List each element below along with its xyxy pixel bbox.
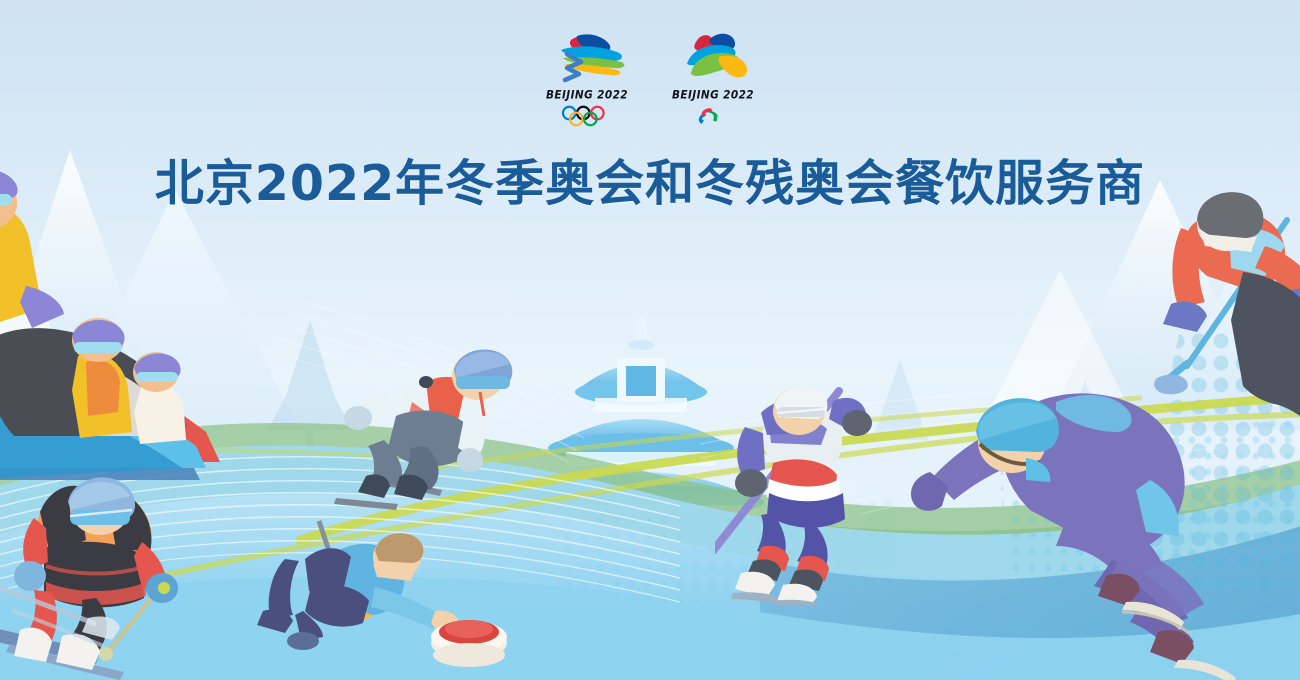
beijing-2022-paralympic-emblem-icon	[667, 30, 759, 88]
skater-body	[344, 349, 512, 500]
page-title: 北京2022年冬季奥会和冬残奥会餐饮服务商	[0, 144, 1300, 215]
hockey-player-body	[731, 386, 872, 605]
athlete-curler-sweeping	[1135, 180, 1300, 440]
bobsleigh-athlete-2	[72, 318, 132, 438]
athlete-curler-delivering	[245, 515, 515, 680]
paralympic-wordmark: BEIJING 2022	[672, 88, 754, 101]
olympic-wordmark: BEIJING 2022	[546, 88, 628, 101]
logo-paralympic: BEIJING 2022	[667, 30, 759, 128]
paralympic-agitos-icon	[687, 104, 739, 128]
beijing-2022-catering-banner: BEIJING 2022	[0, 0, 1300, 680]
logo-olympic: BEIJING 2022	[541, 30, 633, 128]
speed-skate-2	[1150, 630, 1236, 680]
title-block: BEIJING 2022	[0, 30, 1300, 215]
curler-body	[257, 533, 459, 650]
athlete-ice-hockey-player	[715, 375, 915, 605]
beijing-2022-olympic-emblem-icon	[541, 30, 633, 88]
athlete-short-track-skater	[330, 330, 530, 540]
olympic-rings-icon	[553, 104, 621, 128]
emblem-row: BEIJING 2022	[0, 30, 1300, 130]
decor-ski-poles	[0, 560, 180, 680]
curling-stone-red	[431, 620, 507, 667]
